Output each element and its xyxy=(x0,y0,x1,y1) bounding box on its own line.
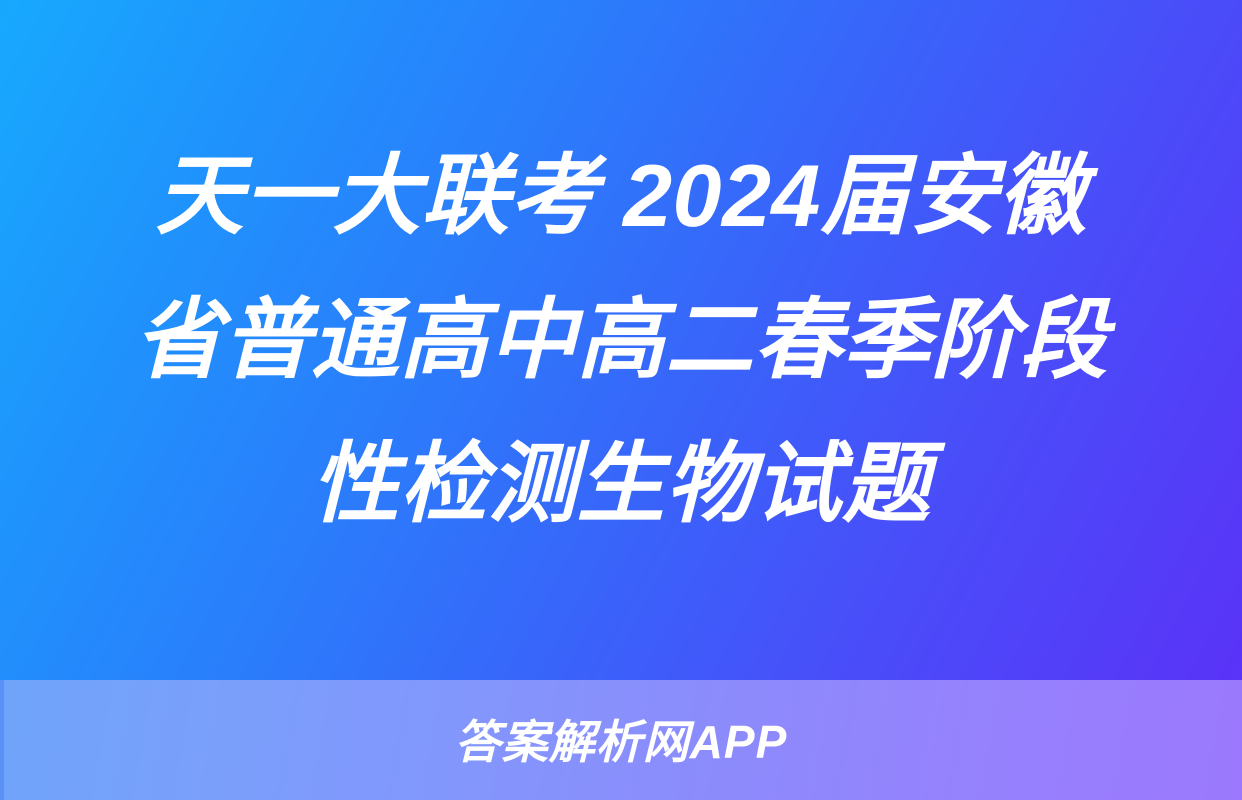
footer-watermark-band: 答案解析网APP xyxy=(0,680,1242,800)
app-watermark-label: 答案解析网APP xyxy=(455,715,788,769)
exam-title-line-2: 省普通高中高二春季阶段 xyxy=(74,268,1168,412)
exam-title-block: 天一大联考 2024届安徽 省普通高中高二春季阶段 性检测生物试题 xyxy=(0,0,1242,680)
exam-cover-card: 天一大联考 2024届安徽 省普通高中高二春季阶段 性检测生物试题 答案解析网A… xyxy=(0,0,1242,800)
exam-title-line-3: 性检测生物试题 xyxy=(74,412,1168,556)
exam-title-line-1: 天一大联考 2024届安徽 xyxy=(74,124,1168,268)
